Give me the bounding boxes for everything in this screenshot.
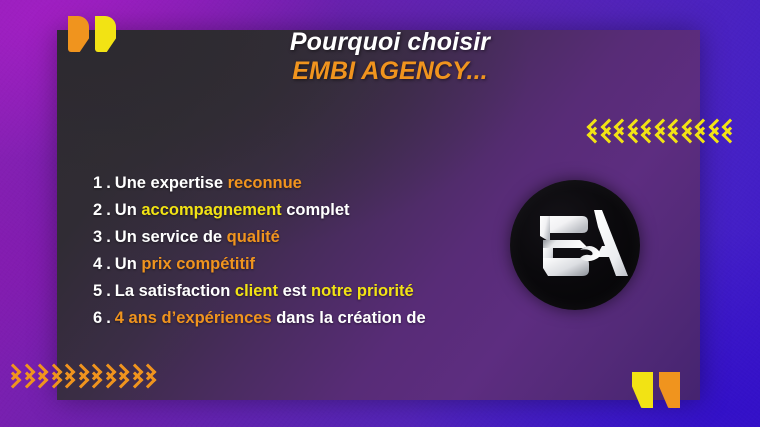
opening-quote-marks [68,16,116,52]
list-item-text-segment: La satisfaction [115,283,235,300]
chevron-icon [669,119,683,141]
chevron-icon [87,364,101,386]
list-item: 4.Un prix compétitif [93,251,563,278]
list-item-number: 4 [93,256,102,273]
chevron-icon [74,364,88,386]
chevron-strip-right-icon [6,364,155,386]
list-item-text-segment: accompagnement [141,202,281,219]
chevron-icon [101,364,115,386]
chevron-icon [47,364,61,386]
list-item-text-segment: Un [115,202,142,219]
list-item-text-segment: notre priorité [311,283,414,300]
list-item-text-segment: client [235,283,278,300]
closing-quote-marks [632,372,680,408]
list-item-text-segment: reconnue [228,175,302,192]
list-item-number: 3 [93,229,102,246]
list-item-text-segment: est [278,283,311,300]
reasons-list: 1.Une expertise reconnue2.Un accompagnem… [93,170,563,332]
list-item-text-segment: Un [115,256,142,273]
chevron-icon [696,119,710,141]
chevron-icon [723,119,737,141]
ea-monogram-icon [510,180,640,310]
chevron-icon [20,364,34,386]
title-line-2: EMBI AGENCY... [180,57,600,86]
list-item-number: 5 [93,283,102,300]
embi-agency-logo [510,180,640,310]
chevron-icon [710,119,724,141]
quote-mark-icon [68,16,89,52]
list-item-separator: . [106,229,111,246]
list-item-number: 6 [93,310,102,327]
chevron-icon [629,119,643,141]
quote-mark-icon [95,16,116,52]
chevron-icon [656,119,670,141]
chevron-icon [683,119,697,141]
chevron-icon [602,119,616,141]
list-item-number: 2 [93,202,102,219]
list-item-separator: . [106,283,111,300]
chevron-icon [642,119,656,141]
list-item-text-segment: Un service de [115,229,227,246]
list-item-text-segment: Une expertise [115,175,228,192]
list-item-separator: . [106,256,111,273]
list-item-text-segment: dans la création de [272,310,426,327]
list-item: 2.Un accompagnement complet [93,197,563,224]
list-item-text-segment: prix compétitif [141,256,255,273]
list-item: 6.4 ans d’expériences dans la création d… [93,305,563,332]
chevron-icon [588,119,602,141]
page-title: Pourquoi choisir EMBI AGENCY... [180,28,600,86]
list-item-separator: . [106,175,111,192]
list-item-separator: . [106,310,111,327]
chevron-icon [615,119,629,141]
list-item-number: 1 [93,175,102,192]
quote-mark-icon [659,372,680,408]
title-line-1: Pourquoi choisir [180,28,600,57]
chevron-icon [141,364,155,386]
quote-mark-icon [632,372,653,408]
list-item-separator: . [106,202,111,219]
list-item-text-segment: qualité [227,229,280,246]
list-item: 1.Une expertise reconnue [93,170,563,197]
chevron-icon [6,364,20,386]
list-item: 3.Un service de qualité [93,224,563,251]
chevron-icon [60,364,74,386]
chevron-icon [128,364,142,386]
list-item-text-segment: 4 ans d’expériences [115,310,272,327]
chevron-strip-left-icon [588,119,737,141]
chevron-icon [33,364,47,386]
list-item: 5.La satisfaction client est notre prior… [93,278,563,305]
chevron-icon [114,364,128,386]
list-item-text-segment: complet [282,202,350,219]
